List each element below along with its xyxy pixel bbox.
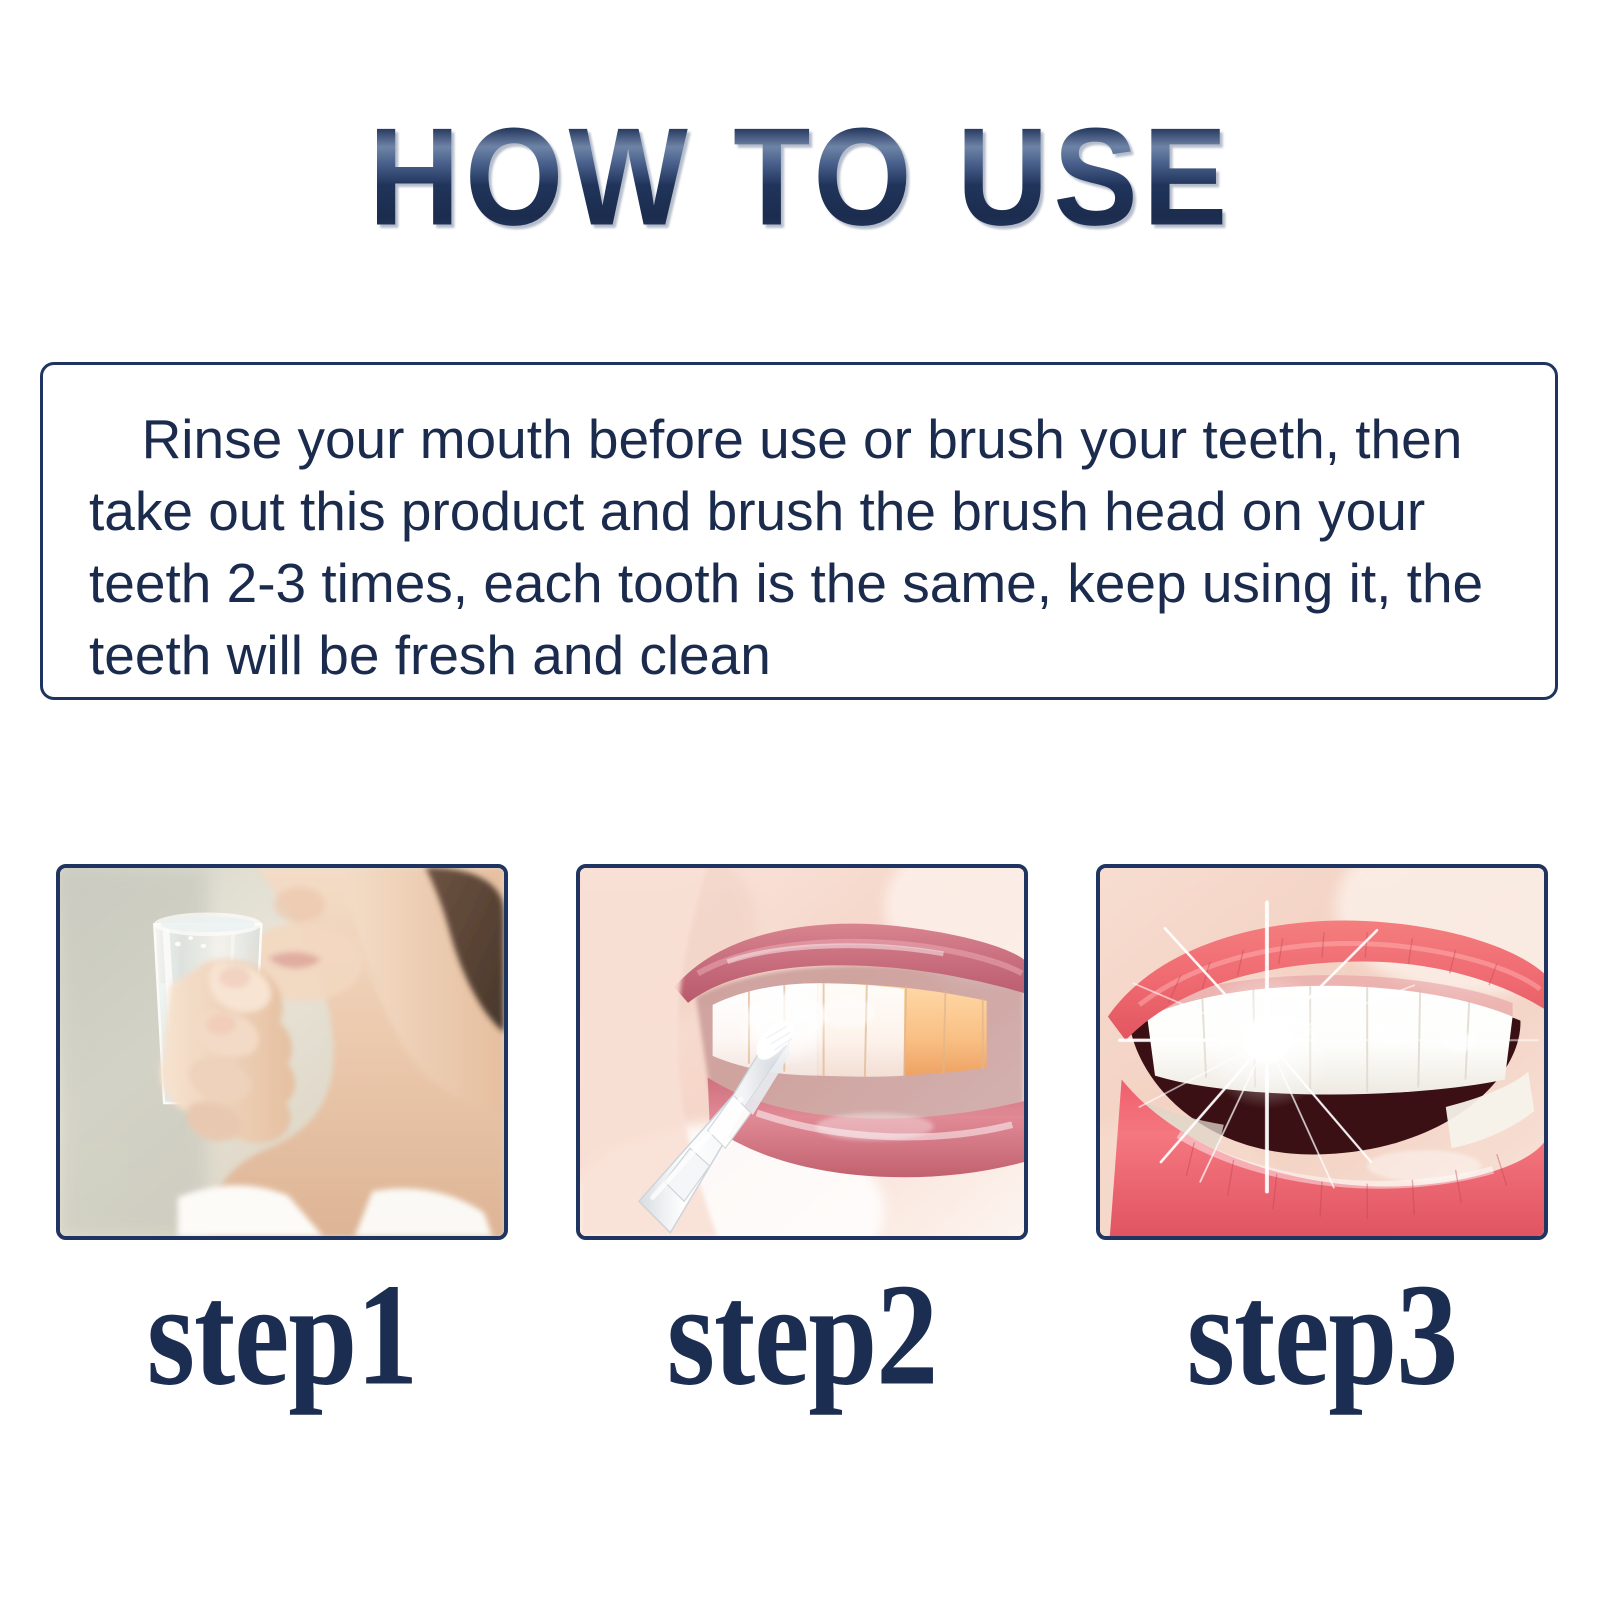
whitening-pen-applied-to-teeth-photo [580,868,1024,1236]
step-item-3: step3 [1096,864,1548,1386]
page-title: HOW TO USE [368,108,1232,247]
step-1-label: step1 [147,1262,418,1408]
step-1-photo-card [56,864,508,1240]
woman-drinking-glass-of-water-photo [60,868,504,1236]
step-3-photo-card [1096,864,1548,1240]
step-item-1: step1 [56,864,508,1386]
bright-white-smile-sparkle-photo [1100,868,1544,1236]
step-3-label: step3 [1187,1262,1458,1408]
page-title-container: HOW TO USE [0,108,1600,232]
step-2-photo-card [576,864,1028,1240]
instructions-text: Rinse your mouth before use or brush you… [89,403,1509,691]
step-item-2: step2 [576,864,1028,1386]
steps-row: step1 [56,864,1548,1386]
step-2-label: step2 [667,1262,938,1408]
instructions-box: Rinse your mouth before use or brush you… [40,362,1558,700]
